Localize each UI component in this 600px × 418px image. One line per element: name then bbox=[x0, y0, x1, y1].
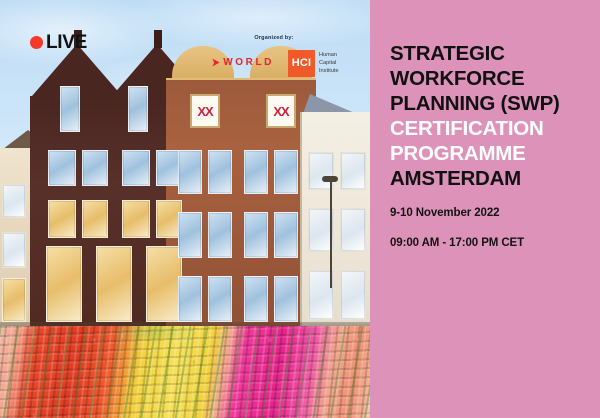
window bbox=[178, 212, 202, 258]
title-line-2: WORKFORCE bbox=[390, 66, 590, 91]
window bbox=[340, 208, 366, 252]
window bbox=[82, 150, 108, 186]
organized-by-caption: Organized by: bbox=[205, 36, 365, 42]
event-date: 9-10 November 2022 bbox=[390, 208, 499, 220]
title-line-5: PROGRAMME bbox=[390, 141, 590, 166]
window bbox=[340, 270, 366, 320]
facade-shield-right: XX bbox=[266, 94, 296, 128]
window bbox=[274, 150, 298, 194]
window bbox=[178, 276, 202, 322]
street-lamp-post bbox=[330, 178, 332, 288]
window-lit bbox=[82, 200, 108, 238]
window-lit bbox=[48, 200, 76, 238]
event-banner: XX XX bbox=[0, 0, 600, 418]
world-arrow-icon: ➤ bbox=[212, 58, 220, 69]
world-logo-text: WORLD bbox=[223, 58, 274, 68]
hci-abbreviation: HCI bbox=[292, 58, 312, 69]
window bbox=[244, 212, 268, 258]
tulip-field bbox=[0, 326, 370, 418]
facade-shield-left: XX bbox=[190, 94, 220, 128]
title-line-6: AMSTERDAM bbox=[390, 166, 590, 191]
window bbox=[208, 212, 232, 258]
window-lit bbox=[96, 246, 132, 322]
live-label: LIVE bbox=[46, 33, 87, 52]
chimney-right bbox=[154, 30, 162, 48]
street-lamp-head bbox=[322, 176, 338, 182]
event-time: 09:00 AM - 17:00 PM CET bbox=[390, 238, 524, 250]
event-info-panel: STRATEGIC WORKFORCE PLANNING (SWP) CERTI… bbox=[370, 0, 600, 418]
hci-logo: HCI Human Capital Institute bbox=[288, 50, 339, 77]
window bbox=[244, 276, 268, 322]
window bbox=[208, 276, 232, 322]
window-lit bbox=[46, 246, 82, 322]
title-line-4: CERTIFICATION bbox=[390, 116, 590, 141]
title-line-1: STRATEGIC bbox=[390, 41, 590, 66]
organizer-lockup: Organized by: ➤ WORLD HCI Human Capital … bbox=[205, 36, 365, 77]
window bbox=[2, 184, 26, 218]
window bbox=[340, 152, 366, 190]
window bbox=[48, 150, 76, 186]
window bbox=[274, 276, 298, 322]
live-badge: LIVE bbox=[30, 33, 87, 52]
window bbox=[60, 86, 80, 132]
hci-logo-mark: HCI bbox=[288, 50, 315, 77]
window-lit bbox=[2, 278, 26, 322]
organizer-logos-row: ➤ WORLD HCI Human Capital Institute bbox=[205, 50, 365, 77]
window bbox=[244, 150, 268, 194]
window bbox=[178, 150, 202, 194]
window bbox=[2, 232, 26, 268]
window-lit bbox=[122, 200, 150, 238]
window bbox=[122, 150, 150, 186]
window bbox=[128, 86, 148, 132]
title-line-3: PLANNING (SWP) bbox=[390, 91, 590, 116]
window-lit bbox=[146, 246, 182, 322]
amsterdam-photo: XX XX bbox=[0, 0, 370, 418]
live-record-dot-icon bbox=[30, 36, 43, 49]
world-logo: ➤ WORLD bbox=[211, 58, 274, 69]
hci-full-name: Human Capital Institute bbox=[319, 51, 339, 75]
window bbox=[274, 212, 298, 258]
window bbox=[208, 150, 232, 194]
event-title: STRATEGIC WORKFORCE PLANNING (SWP) CERTI… bbox=[390, 41, 590, 191]
